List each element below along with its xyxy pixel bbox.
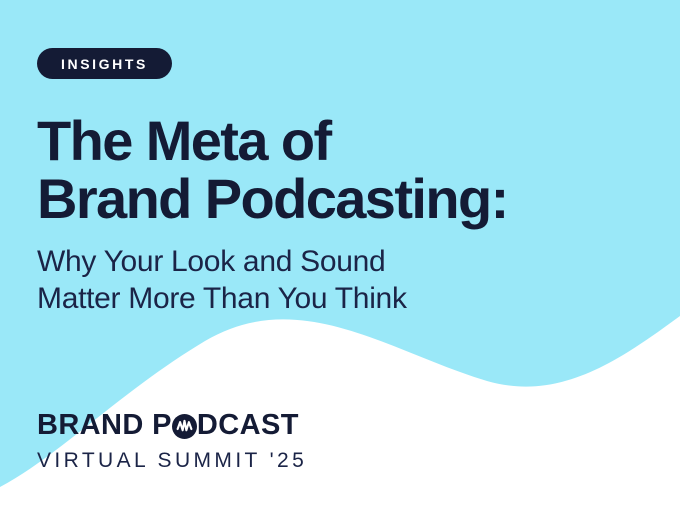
badge-label: INSIGHTS bbox=[61, 57, 148, 71]
brand-text-before-icon: BRAND P bbox=[37, 411, 172, 440]
brand-lockup: BRAND P DCAST VIRTUAL SUMMIT '25 bbox=[37, 410, 307, 471]
subtitle-line-1: Why Your Look and Sound bbox=[37, 243, 637, 280]
summit-subtitle: VIRTUAL SUMMIT '25 bbox=[37, 450, 307, 471]
subtitle-line-2: Matter More Than You Think bbox=[37, 280, 637, 317]
headline-line-2: Brand Podcasting: bbox=[37, 170, 637, 228]
promo-slide: INSIGHTS The Meta of Brand Podcasting: W… bbox=[0, 0, 680, 510]
audio-waveform-circle-icon bbox=[172, 414, 197, 439]
insights-badge: INSIGHTS bbox=[37, 48, 172, 79]
headline-line-1: The Meta of bbox=[37, 112, 637, 170]
brand-text-after-icon: DCAST bbox=[197, 411, 299, 440]
brand-name-row: BRAND P DCAST bbox=[37, 410, 307, 440]
page-subtitle: Why Your Look and Sound Matter More Than… bbox=[37, 243, 637, 317]
page-title: The Meta of Brand Podcasting: bbox=[37, 112, 637, 228]
